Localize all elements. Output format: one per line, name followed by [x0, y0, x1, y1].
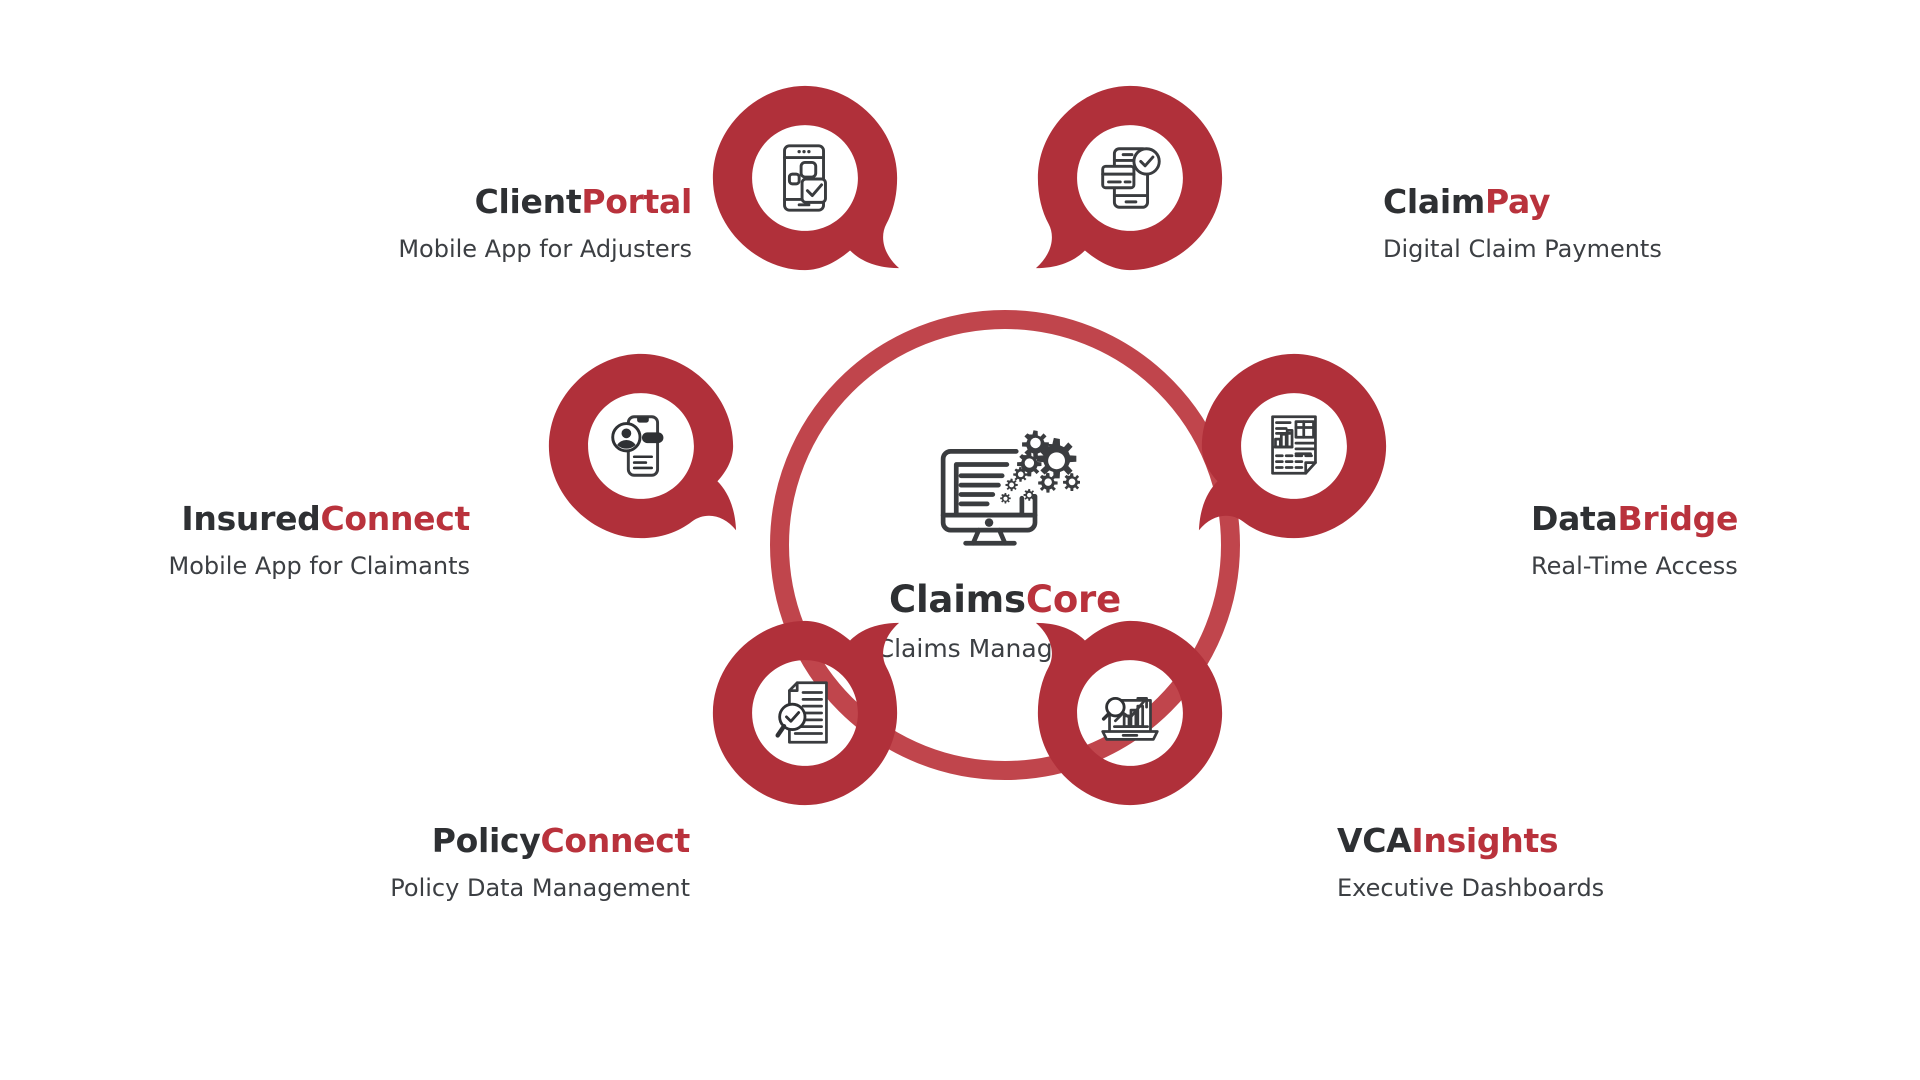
label-subtitle-vca-insights: Executive Dashboards: [1337, 873, 1757, 903]
hub-title-part1: Claims: [889, 578, 1026, 621]
node-insured-connect[interactable]: [543, 348, 739, 544]
label-subtitle-claim-pay: Digital Claim Payments: [1383, 234, 1813, 264]
label-title-vca-insights: VCAInsights: [1337, 821, 1757, 861]
label-title-part1: Claim: [1383, 182, 1485, 221]
label-title-part2: Bridge: [1618, 499, 1739, 538]
label-data-bridge: DataBridge Real-Time Access: [1531, 499, 1911, 581]
label-client-portal: ClientPortal Mobile App for Adjusters: [292, 182, 692, 264]
label-title-insured-connect: InsuredConnect: [60, 499, 470, 539]
label-title-part1: VCA: [1337, 821, 1411, 860]
label-title-data-bridge: DataBridge: [1531, 499, 1911, 539]
label-claim-pay: ClaimPay Digital Claim Payments: [1383, 182, 1813, 264]
report-document-chart-icon: [1255, 407, 1333, 485]
label-title-part1: Policy: [432, 821, 541, 860]
label-insured-connect: InsuredConnect Mobile App for Claimants: [60, 499, 470, 581]
label-vca-insights: VCAInsights Executive Dashboards: [1337, 821, 1757, 903]
label-subtitle-data-bridge: Real-Time Access: [1531, 551, 1911, 581]
label-subtitle-insured-connect: Mobile App for Claimants: [60, 551, 470, 581]
label-title-claim-pay: ClaimPay: [1383, 182, 1813, 222]
mobile-person-profile-icon: [602, 407, 680, 485]
node-claim-pay[interactable]: [1032, 80, 1228, 276]
monitor-gears-icon: [930, 427, 1080, 555]
node-vca-insights[interactable]: [1032, 615, 1228, 811]
label-policy-connect: PolicyConnect Policy Data Management: [230, 821, 690, 903]
label-title-part2: Connect: [541, 821, 691, 860]
document-magnifier-check-icon: [766, 674, 844, 752]
node-policy-connect[interactable]: [707, 615, 903, 811]
node-data-bridge[interactable]: [1196, 348, 1392, 544]
label-title-part1: Client: [475, 182, 582, 221]
label-title-part1: Data: [1531, 499, 1618, 538]
laptop-chart-magnifier-icon: [1091, 674, 1169, 752]
label-title-part2: Portal: [581, 182, 692, 221]
label-subtitle-client-portal: Mobile App for Adjusters: [292, 234, 692, 264]
label-title-part2: Connect: [321, 499, 471, 538]
mobile-card-payment-icon: [1091, 139, 1169, 217]
label-title-policy-connect: PolicyConnect: [230, 821, 690, 861]
label-title-part2: Insights: [1411, 821, 1558, 860]
node-client-portal[interactable]: [707, 80, 903, 276]
mobile-app-checkmark-icon: [766, 139, 844, 217]
label-title-part1: Insured: [181, 499, 320, 538]
label-subtitle-policy-connect: Policy Data Management: [230, 873, 690, 903]
diagram-canvas: ClaimsCore Claims Management: [0, 0, 1920, 1080]
label-title-part2: Pay: [1485, 182, 1550, 221]
label-title-client-portal: ClientPortal: [292, 182, 692, 222]
